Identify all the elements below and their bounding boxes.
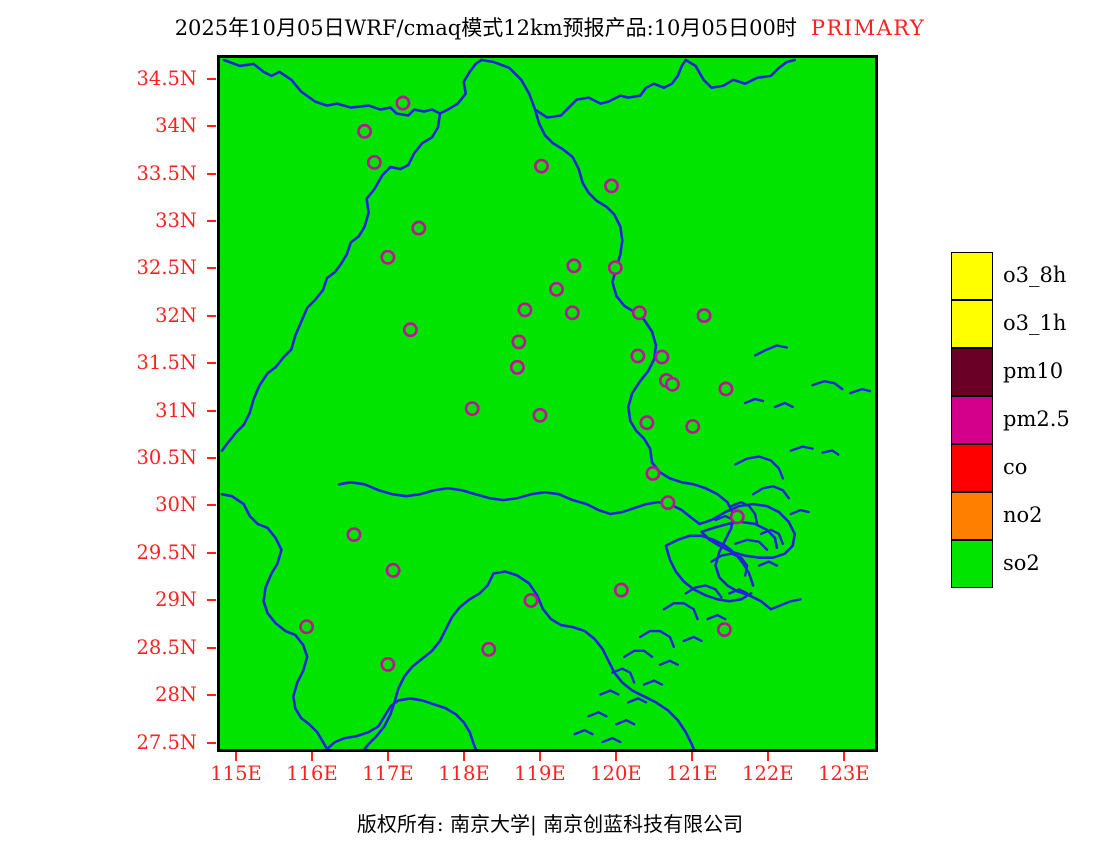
legend-swatch	[951, 540, 993, 588]
y-axis-tick	[207, 315, 216, 317]
y-axis-tick	[207, 694, 216, 696]
x-axis-label: 115E	[196, 764, 276, 783]
y-axis-tick	[207, 362, 216, 364]
legend-label: o3_1h	[1003, 311, 1066, 335]
y-axis-tick	[207, 457, 216, 459]
y-axis-tick	[207, 78, 216, 80]
y-axis-tick	[207, 220, 216, 222]
legend-label: pm10	[1003, 359, 1063, 383]
y-axis-tick	[207, 552, 216, 554]
legend-label: co	[1003, 455, 1027, 479]
x-axis-tick	[463, 752, 465, 761]
legend-label: no2	[1003, 503, 1043, 527]
x-axis-tick	[691, 752, 693, 761]
legend-swatch	[951, 492, 993, 540]
y-axis-label: 28.5N	[117, 638, 197, 657]
x-axis-tick	[767, 752, 769, 761]
y-axis-label: 27.5N	[117, 733, 197, 752]
y-axis-label: 33.5N	[117, 164, 197, 183]
x-axis-tick	[843, 752, 845, 761]
x-axis-label: 117E	[348, 764, 428, 783]
legend-label: so2	[1003, 551, 1040, 575]
legend-swatch	[951, 396, 993, 444]
legend-label: pm2.5	[1003, 407, 1070, 431]
legend-label: o3_8h	[1003, 263, 1066, 287]
y-axis-label: 29.5N	[117, 543, 197, 562]
legend-swatch	[951, 348, 993, 396]
y-axis-tick	[207, 125, 216, 127]
y-axis-label: 32.5N	[117, 258, 197, 277]
x-axis-label: 118E	[424, 764, 504, 783]
y-axis-label: 30N	[117, 495, 197, 514]
y-axis-tick	[207, 504, 216, 506]
x-axis-label: 119E	[500, 764, 580, 783]
y-axis-label: 28N	[117, 685, 197, 704]
y-axis-tick	[207, 647, 216, 649]
y-axis-tick	[207, 742, 216, 744]
forecast-map-page: 2025年10月05日WRF/cmaq模式12km预报产品:10月05日00时P…	[0, 0, 1100, 850]
x-axis-tick	[387, 752, 389, 761]
y-axis-tick	[207, 173, 216, 175]
x-axis-label: 122E	[728, 764, 808, 783]
y-axis-label: 32N	[117, 306, 197, 325]
y-axis-label: 31.5N	[117, 353, 197, 372]
y-axis-tick	[207, 599, 216, 601]
x-axis-tick	[539, 752, 541, 761]
legend-swatch	[951, 444, 993, 492]
axis-layer: 34.5N34N33.5N33N32.5N32N31.5N31N30.5N30N…	[0, 0, 1100, 850]
copyright-footer: 版权所有: 南京大学| 南京创蓝科技有限公司	[0, 808, 1100, 837]
y-axis-tick	[207, 267, 216, 269]
x-axis-label: 123E	[804, 764, 884, 783]
x-axis-tick	[235, 752, 237, 761]
y-axis-label: 31N	[117, 401, 197, 420]
x-axis-tick	[615, 752, 617, 761]
x-axis-label: 120E	[576, 764, 656, 783]
legend-swatch	[951, 300, 993, 348]
x-axis-tick	[311, 752, 313, 761]
y-axis-label: 29N	[117, 590, 197, 609]
legend-swatch	[951, 252, 993, 300]
y-axis-label: 30.5N	[117, 448, 197, 467]
x-axis-label: 116E	[272, 764, 352, 783]
y-axis-label: 34N	[117, 116, 197, 135]
y-axis-label: 33N	[117, 211, 197, 230]
y-axis-tick	[207, 410, 216, 412]
y-axis-label: 34.5N	[117, 69, 197, 88]
x-axis-label: 121E	[652, 764, 732, 783]
